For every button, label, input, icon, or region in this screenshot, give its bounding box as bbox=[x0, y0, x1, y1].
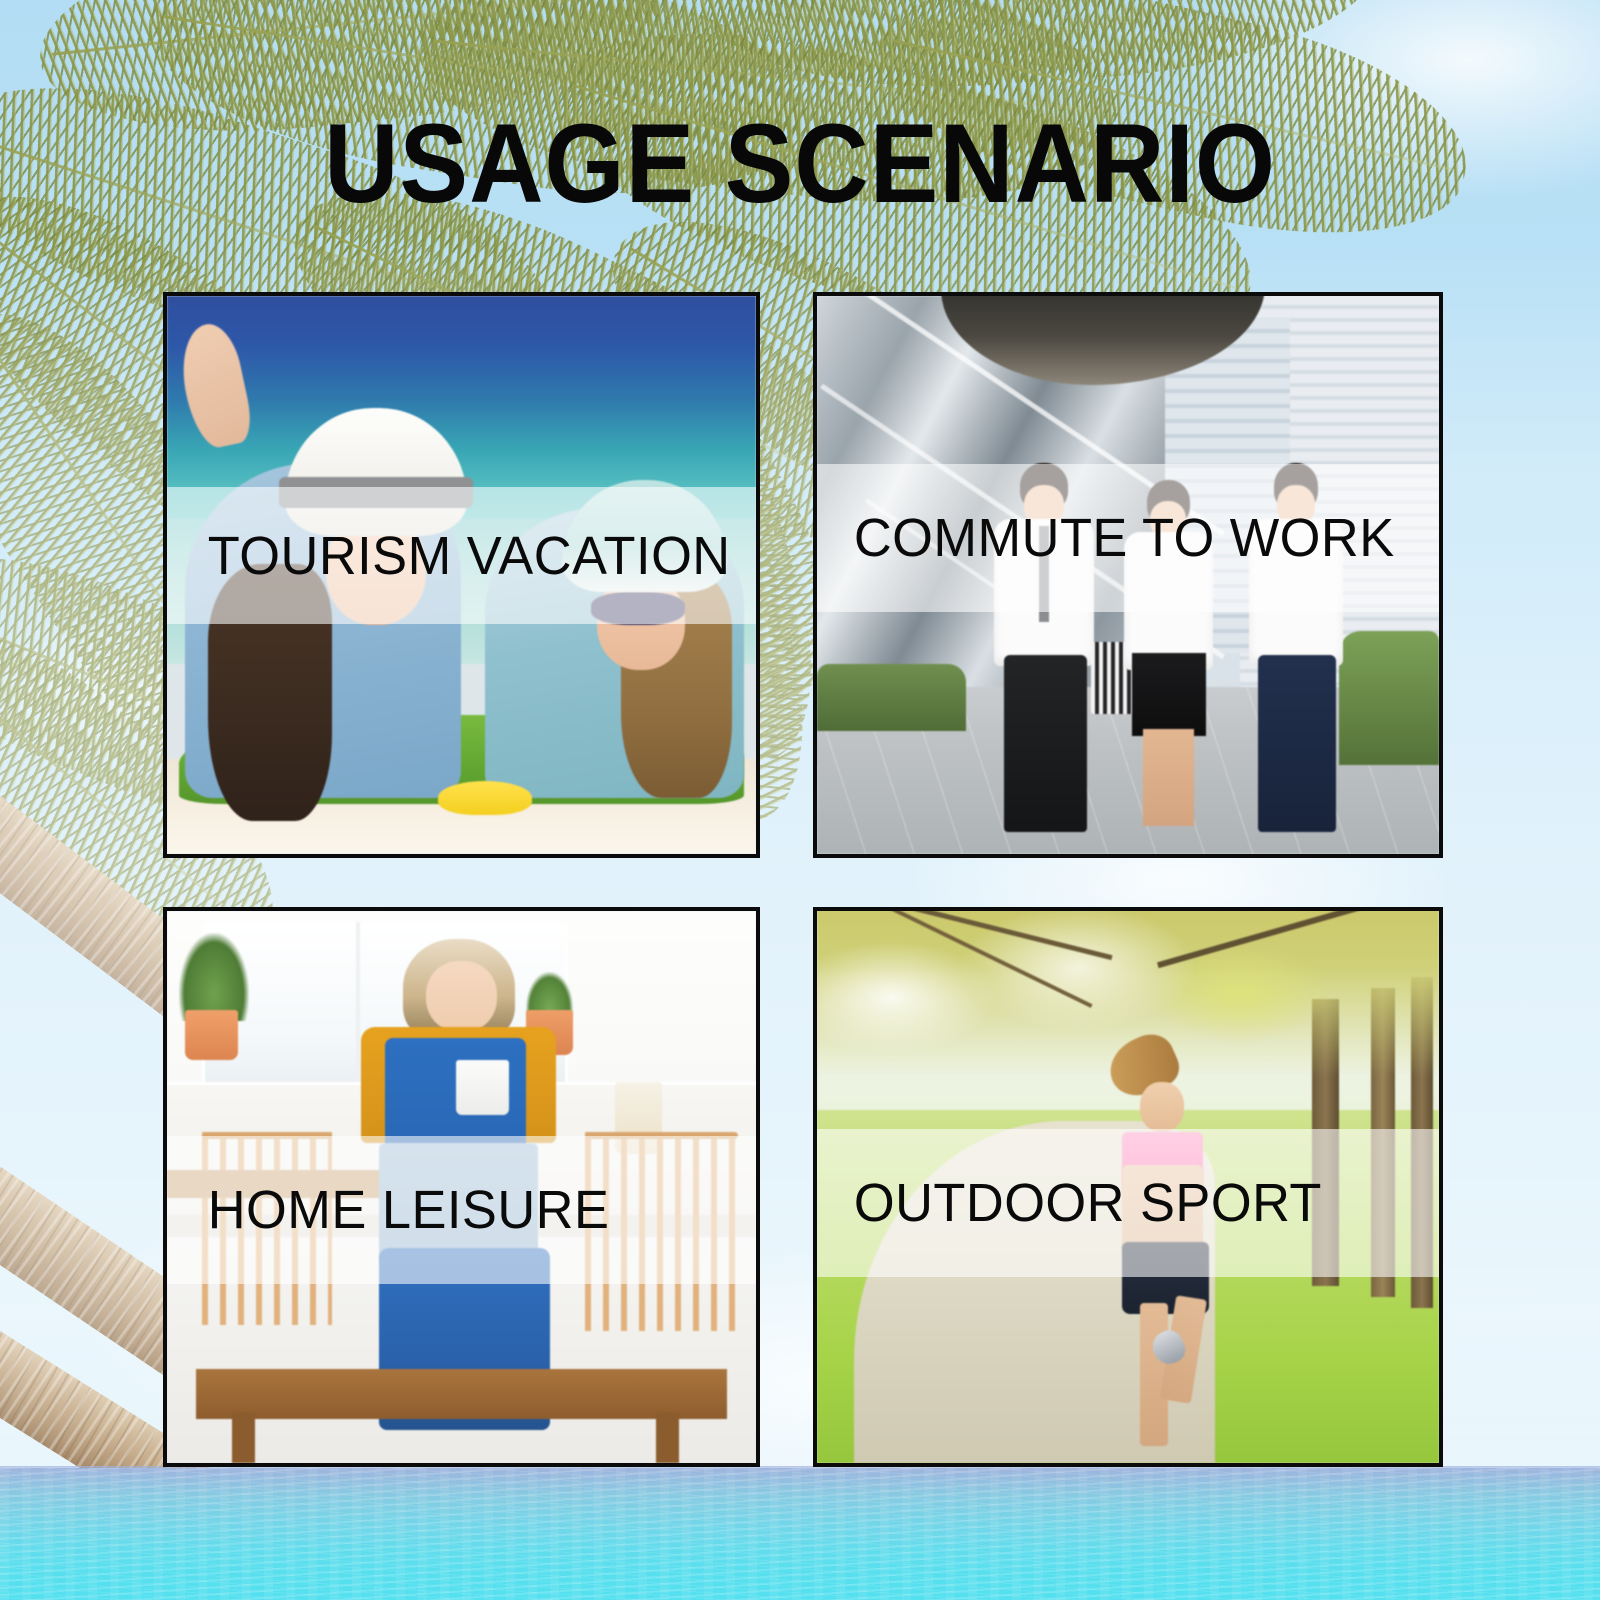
photo-home-leisure bbox=[167, 911, 756, 1463]
photo-outdoor-sport bbox=[817, 911, 1439, 1463]
scenario-card-commute-to-work[interactable]: COMMUTE TO WORK bbox=[813, 292, 1443, 858]
scenario-card-tourism-vacation[interactable]: TOURISM VACATION bbox=[163, 292, 760, 858]
photo-tourism-vacation bbox=[167, 296, 756, 854]
scenario-card-outdoor-sport[interactable]: OUTDOOR SPORT bbox=[813, 907, 1443, 1467]
sea-band bbox=[0, 1468, 1600, 1600]
scenario-grid: TOURISM VACATION COMMUTE TO WORK bbox=[163, 292, 1443, 1467]
photo-commute-to-work bbox=[817, 296, 1439, 854]
scenario-card-home-leisure[interactable]: HOME LEISURE bbox=[163, 907, 760, 1467]
page-title: USAGE SCENARIO bbox=[64, 108, 1536, 220]
